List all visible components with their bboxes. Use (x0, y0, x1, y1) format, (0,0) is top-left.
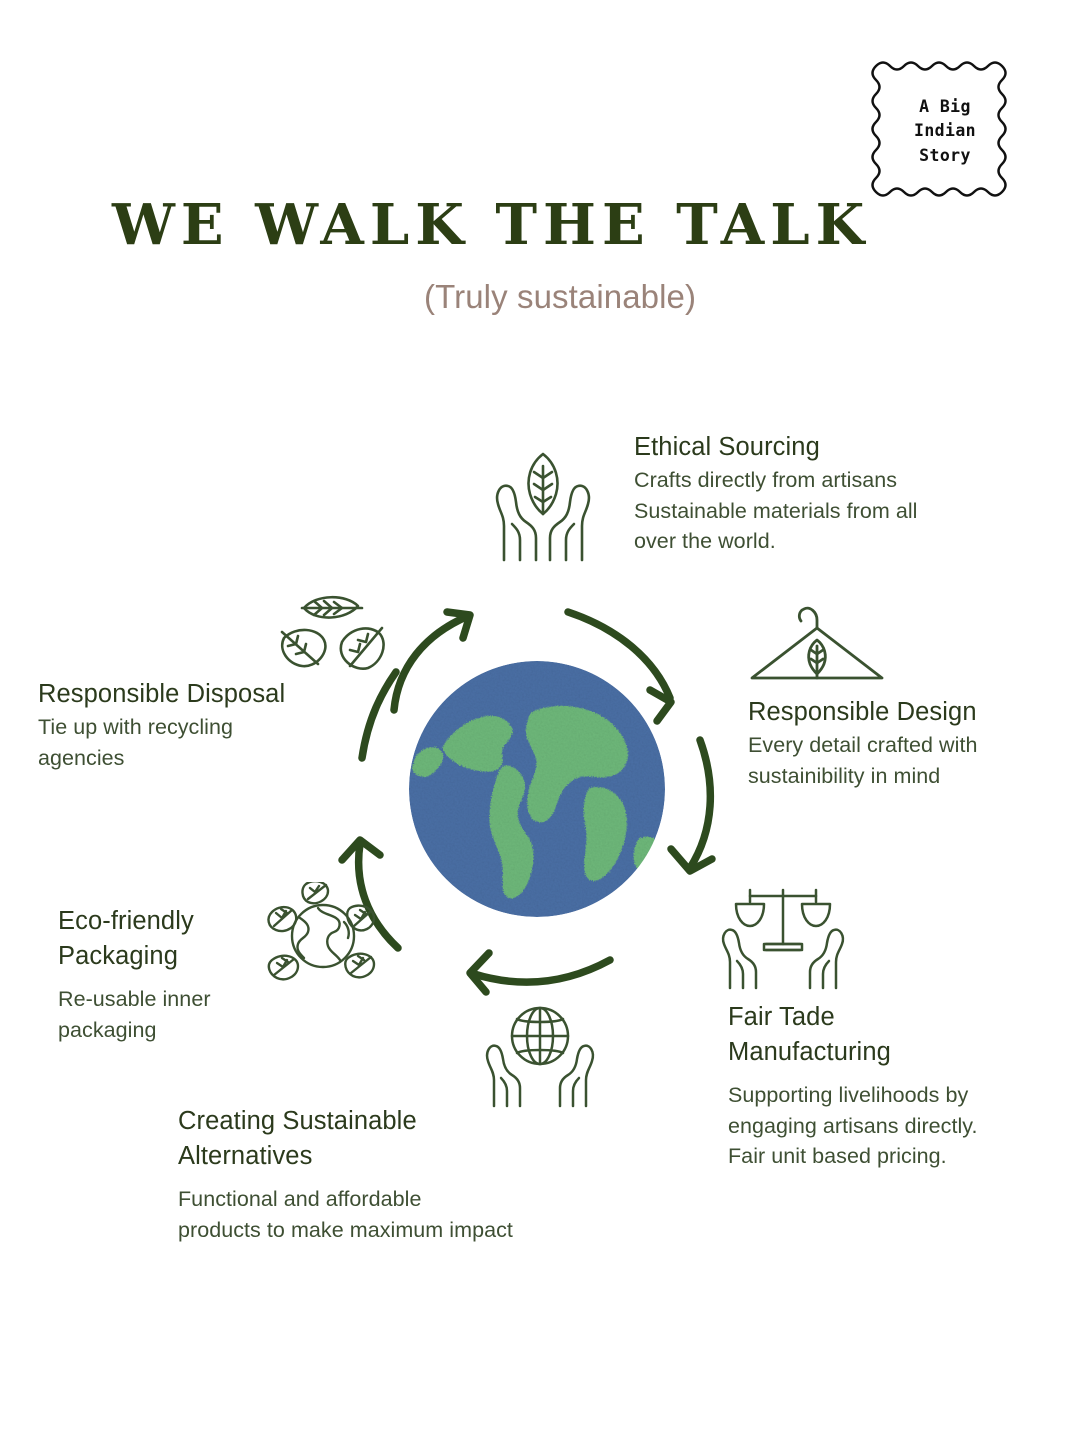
page-subtitle: (Truly sustainable) (424, 278, 696, 316)
node-title-eco-friendly-packaging: Eco-friendlyPackaging (58, 904, 288, 974)
sustainability-cycle-diagram: Ethical Sourcing Crafts directly from ar… (0, 400, 1080, 1360)
node-desc-responsible-disposal: Tie up with recyclingagencies (38, 712, 338, 773)
node-ethical-sourcing: Ethical Sourcing Crafts directly from ar… (634, 430, 994, 557)
node-responsible-design: Responsible Design Every detail crafted … (748, 695, 1048, 791)
logo-line-3: Story (919, 144, 971, 167)
logo-line-2: Indian (914, 119, 976, 142)
node-title-responsible-disposal: Responsible Disposal (38, 677, 338, 712)
node-desc-creating-sustainable-alternatives: Functional and affordableproducts to mak… (178, 1184, 598, 1245)
cycle-arrow-4 (470, 953, 610, 992)
three-leaves-icon (272, 576, 390, 686)
node-title-creating-sustainable-alternatives: Creating SustainableAlternatives (178, 1104, 598, 1174)
node-fair-trade-manufacturing: Fair TadeManufacturing Supporting liveli… (728, 1000, 1038, 1172)
page-title: WE WALK THE TALK (112, 192, 772, 258)
node-creating-sustainable-alternatives: Creating SustainableAlternatives Functio… (178, 1104, 598, 1245)
logo-text-group: A Big Indian Story (868, 52, 1022, 210)
hands-holding-leaf-icon (482, 442, 604, 564)
node-title-fair-trade-manufacturing: Fair TadeManufacturing (728, 1000, 1038, 1070)
hanger-with-leaf-icon (744, 596, 890, 688)
node-desc-responsible-design: Every detail crafted withsustainibility … (748, 730, 1048, 791)
node-eco-friendly-packaging: Eco-friendlyPackaging Re-usable innerpac… (58, 904, 288, 1045)
node-title-responsible-design: Responsible Design (748, 695, 1048, 730)
node-desc-fair-trade-manufacturing: Supporting livelihoods byengaging artisa… (728, 1080, 1038, 1172)
brand-logo-stamp: A Big Indian Story (868, 52, 1022, 210)
node-desc-eco-friendly-packaging: Re-usable innerpackaging (58, 984, 288, 1045)
cycle-arrow-3 (671, 740, 712, 871)
hands-holding-globe-icon (478, 998, 602, 1108)
node-desc-ethical-sourcing: Crafts directly from artisansSustainable… (634, 465, 994, 557)
node-responsible-disposal: Responsible Disposal Tie up with recycli… (38, 677, 338, 773)
logo-line-1: A Big (919, 95, 971, 118)
node-title-ethical-sourcing: Ethical Sourcing (634, 430, 994, 465)
earth-globe-icon (408, 660, 666, 918)
hands-holding-scales-icon (716, 882, 850, 990)
